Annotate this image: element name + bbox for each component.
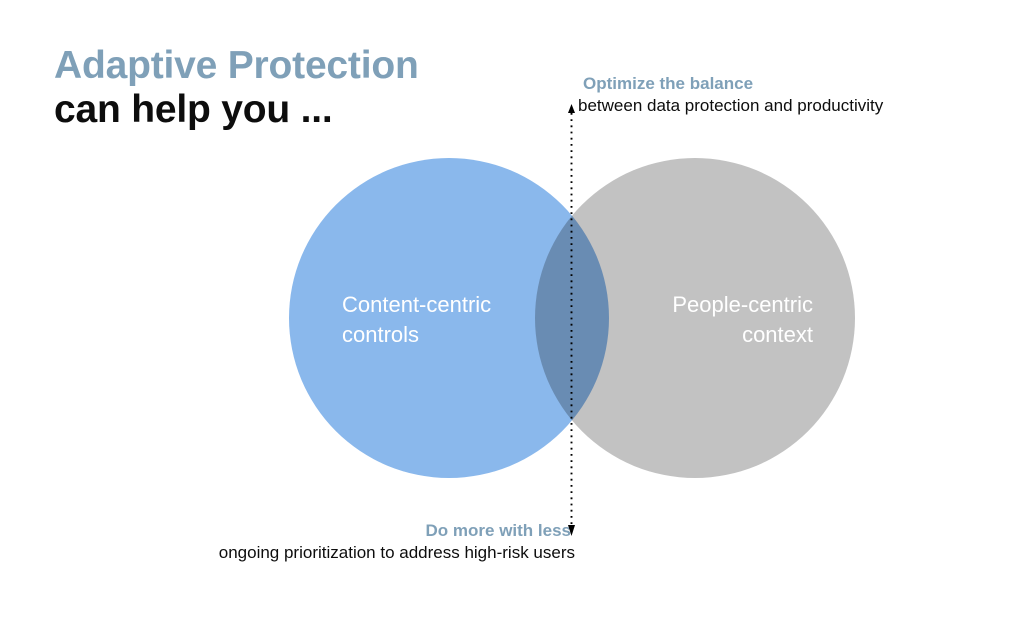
annotation-optimize-balance: Optimize the balance between data protec… bbox=[578, 74, 883, 116]
venn-label-content-centric: Content-centric controls bbox=[342, 290, 552, 351]
annotation-optimize-balance-title: Optimize the balance bbox=[583, 74, 883, 94]
arrow-head-up-icon bbox=[568, 104, 575, 113]
venn-label-content-centric-line2: controls bbox=[342, 322, 419, 347]
annotation-optimize-balance-subtitle: between data protection and productivity bbox=[578, 96, 883, 116]
venn-label-content-centric-line1: Content-centric bbox=[342, 292, 491, 317]
annotation-do-more-with-less-subtitle: ongoing prioritization to address high-r… bbox=[150, 543, 575, 563]
page-title-line1: Adaptive Protection bbox=[54, 44, 419, 88]
page-title: Adaptive Protection can help you ... bbox=[54, 44, 419, 132]
venn-label-people-centric-line1: People-centric bbox=[672, 292, 813, 317]
slide-canvas: Adaptive Protection can help you ... Con… bbox=[0, 0, 1024, 623]
annotation-do-more-with-less: Do more with less ongoing prioritization… bbox=[150, 521, 575, 563]
arrow-head-down-icon bbox=[568, 525, 575, 536]
balance-axis-arrow bbox=[568, 104, 575, 536]
venn-label-people-centric-line2: context bbox=[742, 322, 813, 347]
venn-label-people-centric: People-centric context bbox=[610, 290, 813, 351]
annotation-do-more-with-less-title: Do more with less bbox=[150, 521, 571, 541]
page-title-line2: can help you ... bbox=[54, 88, 419, 132]
